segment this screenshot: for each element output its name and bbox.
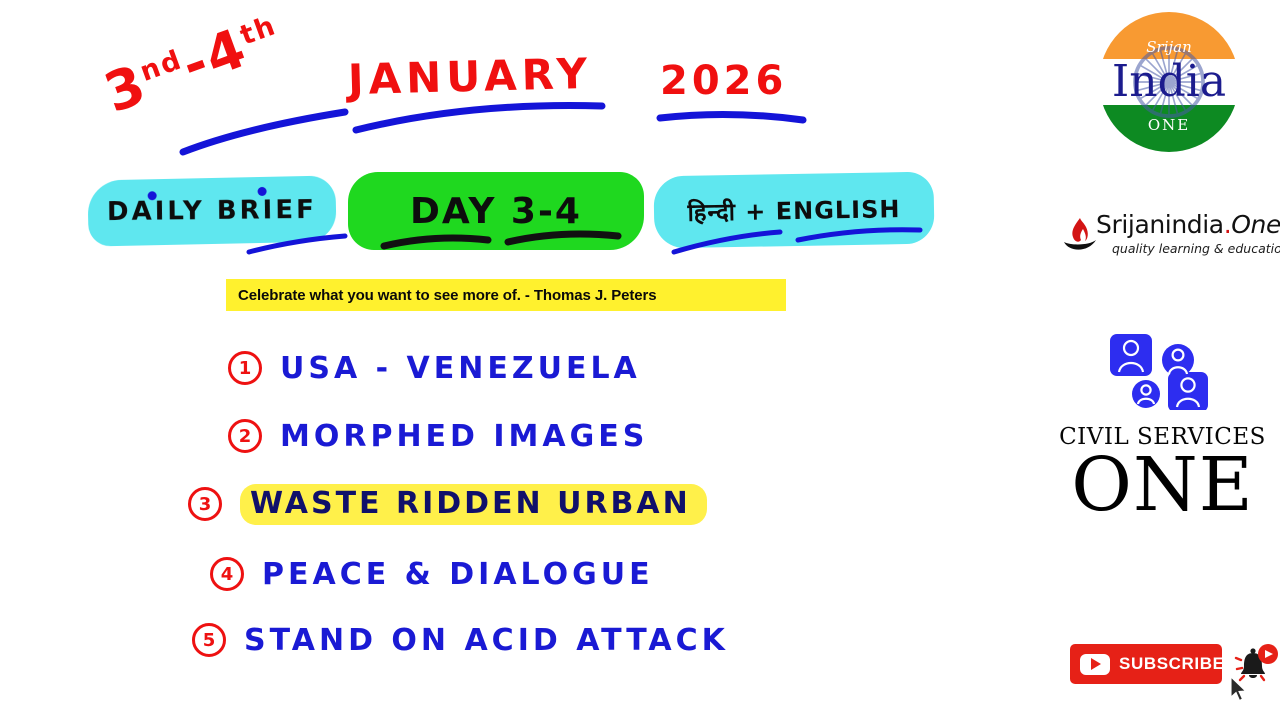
item-number-badge: 4 [210, 557, 244, 591]
wordmark-title-one: One [1231, 210, 1280, 239]
list-item: 3 WASTE RIDDEN URBAN [188, 477, 707, 531]
subscribe-label: SUBSCRIBE [1119, 654, 1225, 674]
item-number-badge: 3 [188, 487, 222, 521]
civil-services-line2: ONE [1050, 442, 1275, 528]
mouse-cursor-icon [1230, 676, 1248, 702]
branding-sidebar: Srijan India ONE Srijanindia.One quality… [1040, 0, 1280, 720]
date-year: 2026 [660, 58, 787, 104]
wordmark-title: Srijanindia.One [1096, 210, 1280, 239]
topic-list: 1 USA - VENEZUELA 2 MORPHED IMAGES 3 WAS… [0, 325, 1040, 665]
list-item: 4 PEACE & DIALOGUE [210, 547, 654, 601]
list-item: 5 STAND ON ACID ATTACK [192, 613, 729, 667]
civil-services-one-logo: CIVIL SERVICES ONE [1050, 332, 1275, 532]
underline-stroke-year [655, 108, 810, 138]
wordmark-title-main: Srijanindia [1096, 210, 1224, 239]
topic-label: PEACE & DIALOGUE [262, 557, 654, 592]
people-group-icon [1110, 332, 1214, 410]
list-item: 1 USA - VENEZUELA [228, 341, 641, 395]
subscribe-area[interactable]: SUBSCRIBE [1070, 644, 1280, 690]
whiteboard-canvas: 3nd-4th JANUARY 2026 DAILY BRIEF DAY 3-4 [0, 0, 1040, 720]
quote-text: Celebrate what you want to see more of. … [238, 287, 656, 304]
quote-banner: Celebrate what you want to see more of. … [226, 279, 786, 311]
logo-main-text: India [1099, 54, 1239, 110]
topic-label: USA - VENEZUELA [280, 351, 641, 386]
underline-stroke-month [350, 100, 610, 140]
diya-flame-icon [1060, 214, 1100, 254]
topic-label-highlighted: WASTE RIDDEN URBAN [240, 484, 707, 525]
topic-label: MORPHED IMAGES [280, 419, 648, 454]
language-label: हिन्दी + ENGLISH [687, 192, 900, 229]
item-number-badge: 2 [228, 419, 262, 453]
srijanindia-wordmark: Srijanindia.One quality learning & educa… [1060, 208, 1265, 266]
date-day-range: 3nd-4th [96, 3, 289, 125]
day-range-label: DAY 3-4 [410, 191, 582, 232]
list-item: 2 MORPHED IMAGES [228, 409, 648, 463]
item-number-badge: 1 [228, 351, 262, 385]
logo-bottom-text: ONE [1099, 116, 1239, 134]
underline-stroke-day [175, 108, 355, 158]
underline-stroke-day-chip [380, 228, 630, 254]
daily-brief-label: DAILY BRIEF [107, 195, 317, 227]
topic-label: STAND ON ACID ATTACK [244, 623, 729, 658]
item-number-badge: 5 [192, 623, 226, 657]
subscribe-button[interactable]: SUBSCRIBE [1070, 644, 1222, 684]
date-month: JANUARY [347, 49, 592, 104]
label-row: DAILY BRIEF DAY 3-4 हिन्दी + ENGLISH [0, 170, 1040, 262]
underline-stroke-language [668, 226, 928, 256]
srijan-india-one-logo: Srijan India ONE [1099, 12, 1239, 152]
youtube-play-icon [1080, 654, 1110, 675]
wordmark-tagline: quality learning & education [1112, 241, 1280, 256]
underline-stroke-daily [245, 232, 350, 258]
date-header: 3nd-4th JANUARY 2026 [0, 0, 1040, 165]
